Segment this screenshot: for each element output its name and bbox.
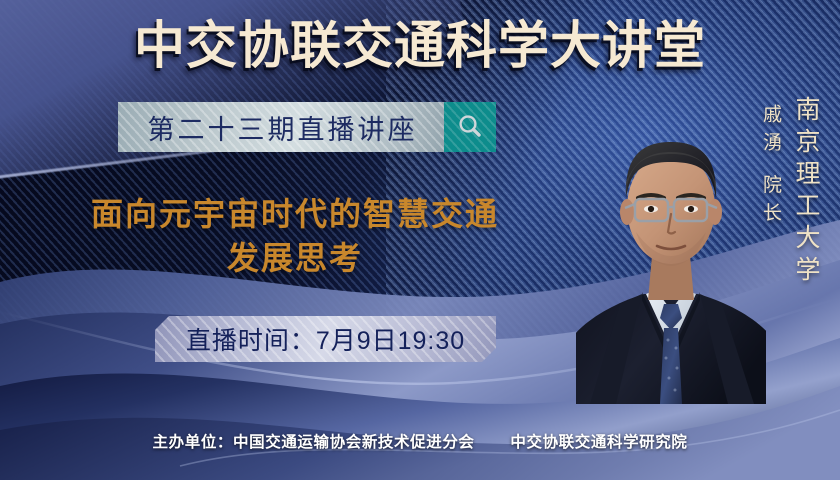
search-icon — [455, 112, 485, 142]
search-button[interactable] — [444, 102, 496, 152]
organizers-footer: 主办单位：中国交通运输协会新技术促进分会 中交协联交通科学研究院 — [0, 430, 840, 452]
lecture-title-line-1: 面向元宇宙时代的智慧交通 — [40, 192, 550, 236]
episode-bar-body: 第二十三期直播讲座 — [118, 102, 444, 152]
lecture-title: 面向元宇宙时代的智慧交通 发展思考 — [40, 192, 550, 280]
organizer-primary: 主办单位：中国交通运输协会新技术促进分会 — [153, 434, 475, 451]
speaker-portrait — [576, 104, 766, 404]
livestream-promo-poster: 中交协联交通科学大讲堂 第二十三期直播讲座 面向元宇宙时代的智慧交通 发展思考 … — [0, 0, 840, 480]
broadcast-time-badge: 直播时间：7月9日19:30 — [155, 316, 496, 362]
lecture-title-line-2: 发展思考 — [40, 236, 550, 280]
speaker-affiliation: 南京理工大学 — [788, 96, 824, 288]
episode-label: 第二十三期直播讲座 — [145, 108, 418, 147]
broadcast-time-text: 直播时间：7月9日19:30 — [186, 321, 465, 357]
page-title: 中交协联交通科学大讲堂 — [0, 16, 840, 76]
episode-bar[interactable]: 第二十三期直播讲座 — [118, 102, 496, 152]
organizer-secondary: 中交协联交通科学研究院 — [510, 434, 687, 451]
speaker-name-title: 戚湧 院长 — [757, 104, 784, 230]
